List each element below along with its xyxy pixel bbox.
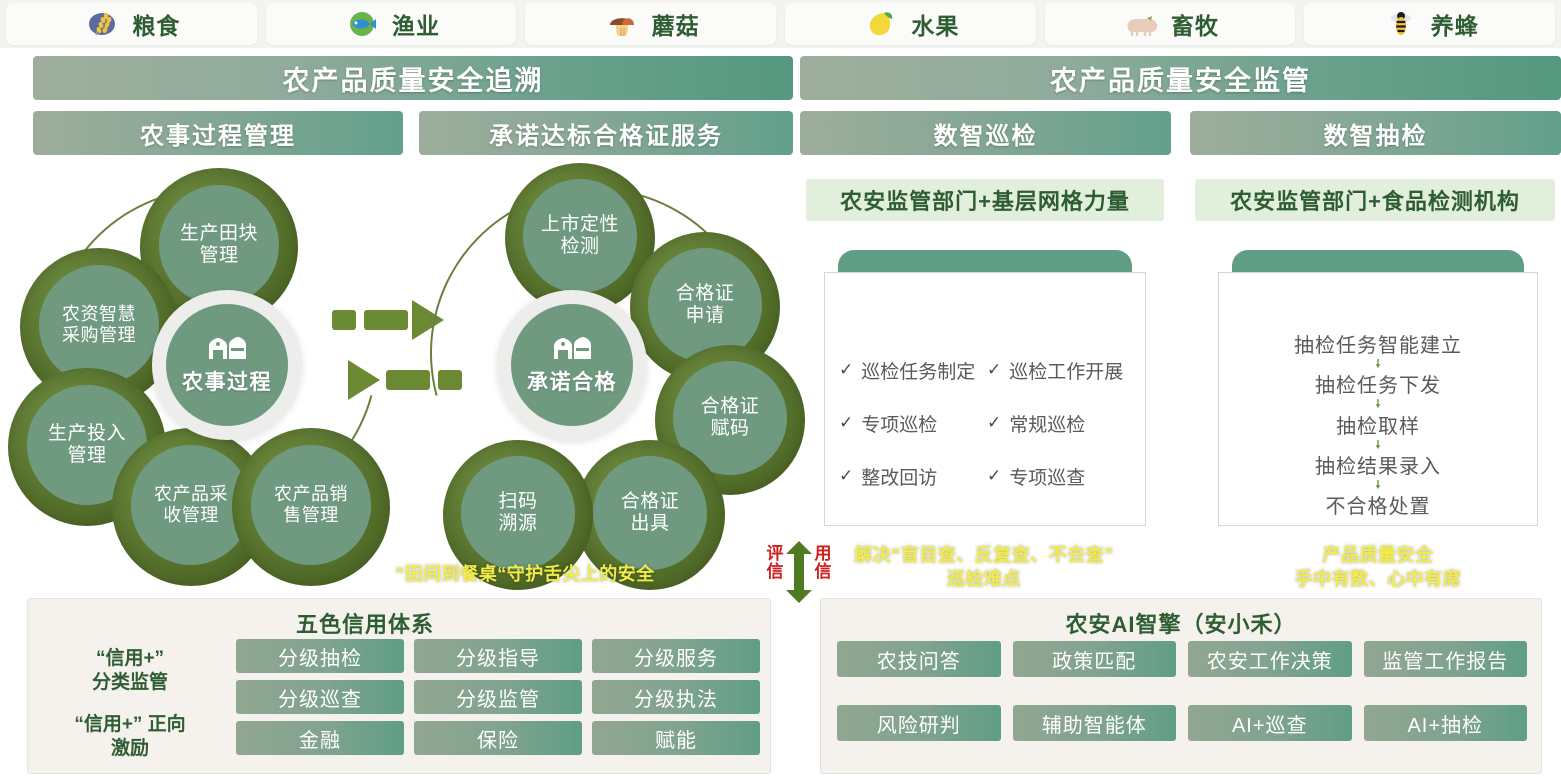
bubble-label: 生产田块管理 [159,185,279,305]
list-item[interactable]: ✓巡检工作开展 [987,357,1135,384]
list-item[interactable]: ✓整改回访 [839,463,987,490]
sampling-flow-list: 抽检任务智能建立 抽检任务下发 抽检取样 抽检结果录入 不合格处置 [1219,329,1537,519]
tab-fruit[interactable]: 水果 [785,3,1036,45]
credit-left-label-2: “信用+” 正向激励 [40,713,220,761]
arrow-down-icon [1372,440,1384,449]
chip-sampling-actors: 农安监管部门+食品检测机构 [1195,179,1555,221]
banner-cert-service: 承诺达标合格证服务 [419,111,793,155]
tab-label: 渔业 [392,7,440,41]
flow-step[interactable]: 不合格处置 [1326,490,1431,519]
tab-mushroom[interactable]: 蘑菇 [525,3,776,45]
hub-label: 承诺合格 [527,366,617,396]
credit-chip[interactable]: 分级巡查 [236,680,404,714]
flow-step[interactable]: 抽检任务下发 [1315,369,1441,398]
wheat-icon [82,9,122,39]
pig-icon [1121,9,1161,39]
credit-chip[interactable]: 分级监管 [414,680,582,714]
item-label: 巡检工作开展 [1009,357,1123,384]
check-icon: ✓ [987,466,1001,486]
credit-chip[interactable]: 金融 [236,721,404,755]
ai-chip[interactable]: 农安工作决策 [1188,641,1352,677]
tab-livestock[interactable]: 畜牧 [1045,3,1296,45]
credit-left-label-1: “信用+”分类监管 [40,647,220,695]
tagline-sampling: 产品质量安全手中有数、心中有席 [1218,543,1538,592]
category-tabbar: 粮食 渔业 蘑菇 水果 [0,0,1561,48]
item-label: 常规巡检 [1009,410,1085,437]
ai-chip[interactable]: 辅助智能体 [1013,705,1177,741]
tab-label: 粮食 [132,7,180,41]
credit-chip[interactable]: 保险 [414,721,582,755]
bubble-label: 扫码溯源 [461,456,575,570]
credit-system-title: 五色信用体系 [28,607,770,639]
bubble-label: 合格证出具 [593,456,707,570]
list-item[interactable]: ✓专项巡查 [987,463,1135,490]
barn-icon [207,334,247,362]
item-label: 专项巡查 [1009,463,1085,490]
check-icon: ✓ [839,466,853,486]
hub-label: 农事过程 [182,366,272,396]
sampling-panel: 抽检任务智能建立 抽检任务下发 抽检取样 抽检结果录入 不合格处置 [1218,250,1538,526]
item-label: 整改回访 [861,463,937,490]
credit-chip[interactable]: 赋能 [592,721,760,755]
check-icon: ✓ [987,413,1001,433]
ai-chip[interactable]: AI+抽检 [1364,705,1528,741]
arrow-down-icon [1372,359,1384,368]
tab-label: 水果 [911,7,959,41]
credit-chip[interactable]: 分级抽检 [236,639,404,673]
check-icon: ✓ [839,413,853,433]
mango-icon [861,9,901,39]
credit-evaluate-label: 评信 [764,545,786,581]
item-label: 专项巡检 [861,410,937,437]
banner-smart-patrol: 数智巡检 [800,111,1171,155]
bee-icon [1381,9,1421,39]
bubble-label: 上市定性检测 [523,179,637,293]
bubble-label: 合格证申请 [648,248,762,362]
ai-chip[interactable]: 农技问答 [837,641,1001,677]
flow-step[interactable]: 抽检任务智能建立 [1294,329,1462,358]
list-item[interactable]: ✓巡检任务制定 [839,357,987,384]
credit-system-box: 五色信用体系 “信用+”分类监管 “信用+” 正向激励 分级抽检 分级指导 分级… [27,598,771,774]
item-label: 巡检任务制定 [861,357,975,384]
bubble-label: 农资智慧采购管理 [39,265,159,385]
banner-smart-sampling: 数智抽检 [1190,111,1561,155]
infographic-root: 粮食 渔业 蘑菇 水果 [0,0,1561,779]
credit-chip-grid: 分级抽检 分级指导 分级服务 分级巡查 分级监管 分级执法 金融 保险 赋能 [236,639,760,755]
tab-label: 蘑菇 [652,7,700,41]
banner-traceability: 农产品质量安全追溯 [33,56,793,100]
chip-patrol-actors: 农安监管部门+基层网格力量 [806,179,1164,221]
banner-supervision: 农产品质量安全监管 [800,56,1561,100]
arrow-down-icon [1372,399,1384,408]
tagline-farm-to-table: “田间到餐桌“守护舌尖上的安全 [265,560,785,586]
flow-step[interactable]: 抽检结果录入 [1315,450,1441,479]
ai-engine-box: 农安AI智擎（安小禾） 农技问答 政策匹配 农安工作决策 监管工作报告 风险研判… [820,598,1542,774]
tab-grain[interactable]: 粮食 [6,3,257,45]
panel-card: ✓巡检任务制定 ✓巡检工作开展 ✓专项巡检 ✓常规巡检 ✓整改回访 ✓专项巡查 [824,272,1146,526]
bubble-label: 农产品销售管理 [251,445,371,565]
ai-chip[interactable]: 政策匹配 [1013,641,1177,677]
list-item[interactable]: ✓常规巡检 [987,410,1135,437]
ai-chip[interactable]: 风险研判 [837,705,1001,741]
credit-chip[interactable]: 分级指导 [414,639,582,673]
patrol-panel: ✓巡检任务制定 ✓巡检工作开展 ✓专项巡检 ✓常规巡检 ✓整改回访 ✓专项巡查 [824,250,1146,526]
ai-chip[interactable]: 监管工作报告 [1364,641,1528,677]
fish-icon [342,9,382,39]
patrol-check-list: ✓巡检任务制定 ✓巡检工作开展 ✓专项巡检 ✓常规巡检 ✓整改回访 ✓专项巡查 [825,331,1145,515]
tab-label: 畜牧 [1171,7,1219,41]
ai-chip-grid: 农技问答 政策匹配 农安工作决策 监管工作报告 风险研判 辅助智能体 AI+巡查… [837,641,1527,741]
check-icon: ✓ [839,360,853,380]
panel-card: 抽检任务智能建立 抽检任务下发 抽检取样 抽检结果录入 不合格处置 [1218,272,1538,526]
list-item[interactable]: ✓专项巡检 [839,410,987,437]
mushroom-icon [602,9,642,39]
tab-beekeeping[interactable]: 养蜂 [1304,3,1555,45]
tab-fishery[interactable]: 渔业 [266,3,517,45]
banner-farm-process: 农事过程管理 [33,111,403,155]
barn-icon [552,334,592,362]
tagline-patrol: 解决“盲目查、反复查、不去查”巡检难点 [824,543,1144,592]
arrow-down-icon [1372,480,1384,489]
flow-step[interactable]: 抽检取样 [1336,410,1420,439]
hub-farm-process[interactable]: 农事过程 [152,290,302,440]
ai-engine-title: 农安AI智擎（安小禾） [821,607,1541,639]
tab-label: 养蜂 [1431,7,1479,41]
check-icon: ✓ [987,360,1001,380]
credit-chip[interactable]: 分级服务 [592,639,760,673]
hub-cert-compliance[interactable]: 承诺合格 [497,290,647,440]
credit-chip[interactable]: 分级执法 [592,680,760,714]
ai-chip[interactable]: AI+巡查 [1188,705,1352,741]
